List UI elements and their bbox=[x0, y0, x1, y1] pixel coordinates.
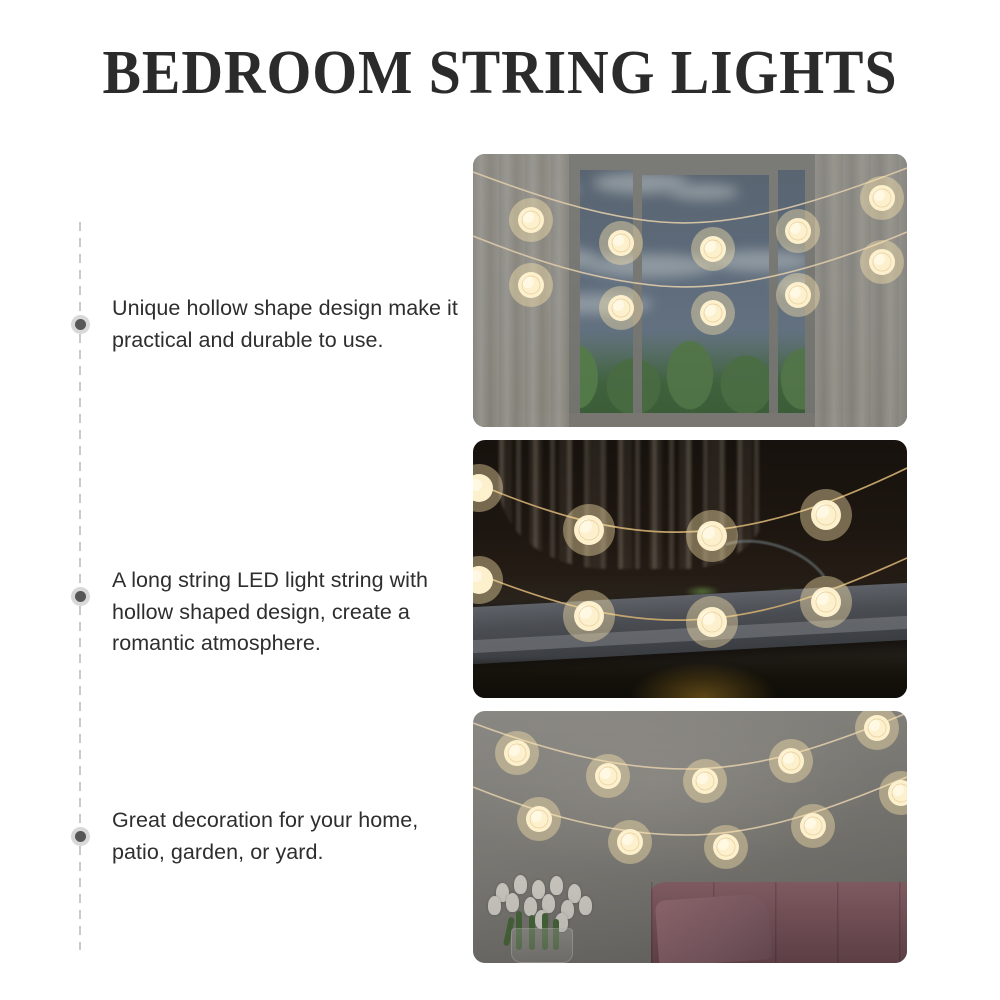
string-lights-overlay bbox=[473, 711, 907, 963]
product-photo-bay-window bbox=[473, 154, 907, 427]
string-lights-overlay bbox=[473, 440, 907, 698]
timeline-bullet-icon bbox=[62, 818, 98, 854]
page-title: BEDROOM STRING LIGHTS bbox=[35, 38, 965, 109]
timeline-bullet-icon bbox=[62, 578, 98, 614]
timeline-bullet-icon bbox=[62, 306, 98, 342]
feature-text-1: Unique hollow shape design make it pract… bbox=[112, 293, 472, 356]
bullet-core bbox=[75, 319, 86, 330]
bullet-core bbox=[75, 591, 86, 602]
feature-text-3: Great decoration for your home, patio, g… bbox=[112, 805, 472, 868]
feature-text-2: A long string LED light string with holl… bbox=[112, 565, 472, 660]
bullet-core bbox=[75, 831, 86, 842]
product-photo-living-room bbox=[473, 711, 907, 963]
product-photo-bar bbox=[473, 440, 907, 698]
string-lights-overlay bbox=[473, 154, 907, 427]
